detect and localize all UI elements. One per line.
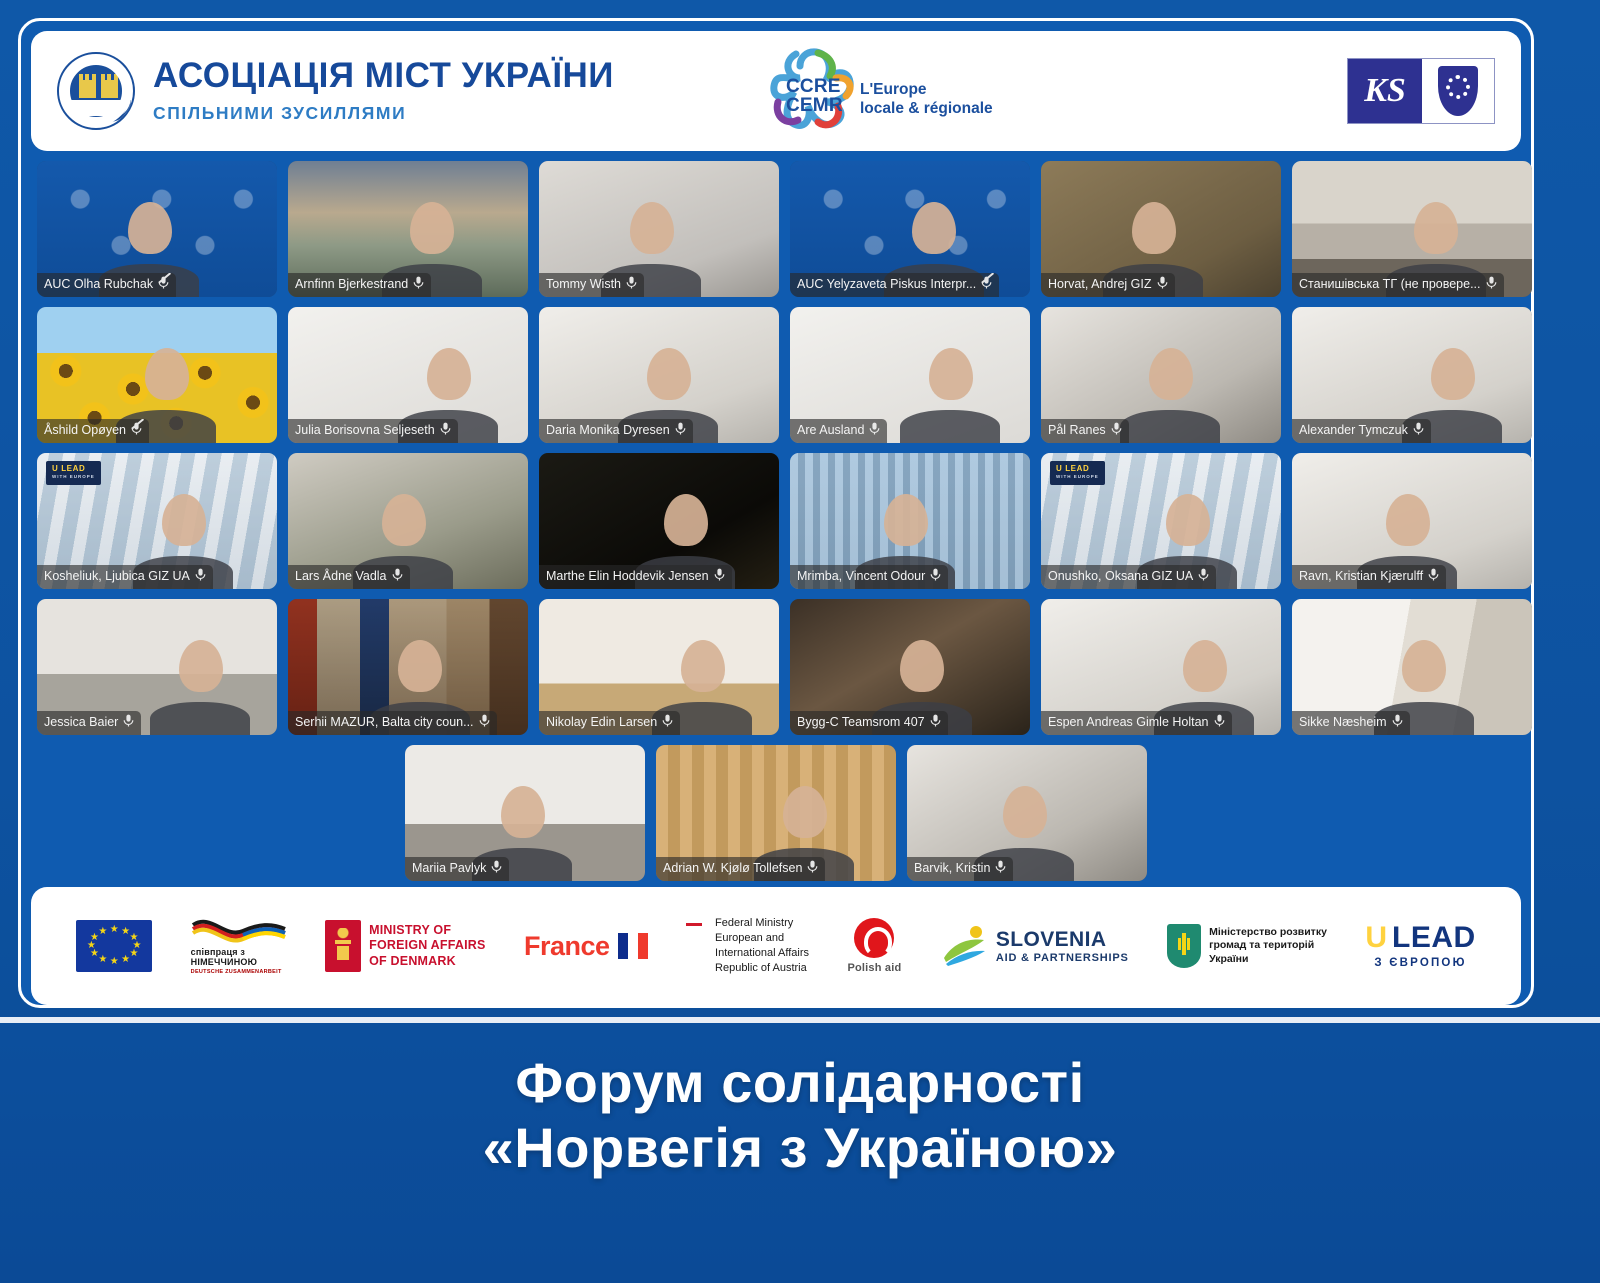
sponsor-ukraine-ministry: Міністерство розвитку громад та територі… [1167, 924, 1327, 968]
participant-tile[interactable]: Jessica Baier [37, 599, 277, 735]
ccre-abbreviation: CCRE CEMR [786, 78, 843, 115]
participant-name: Sikke Næsheim [1299, 715, 1387, 731]
participant-name: Pål Ranes [1048, 423, 1106, 439]
participant-name: Åshild Opøyen [44, 423, 126, 439]
participant-face [884, 494, 928, 546]
microphone-icon[interactable] [440, 422, 451, 439]
participant-row: AUC Olha RubchakArnfinn BjerkestrandTomm… [37, 161, 1515, 297]
microphone-icon[interactable] [1157, 276, 1168, 293]
ks-shield-icon [1438, 66, 1478, 116]
sponsor-slovenia: SLOVENIA AID & PARTNERSHIPS [940, 924, 1129, 968]
auc-seal-icon [57, 52, 135, 130]
microphone-icon[interactable] [413, 276, 424, 293]
participant-name-bar: Nikolay Edin Larsen [539, 711, 680, 735]
slovenia-name: SLOVENIA [996, 928, 1129, 952]
participant-name: Mrimba, Vincent Odour [797, 569, 925, 585]
ulead-virtual-background-badge: U LEADWITH EUROPE [1050, 461, 1105, 485]
ukraine-ministry-text: Міністерство розвитку громад та територі… [1209, 926, 1327, 967]
participant-name: Arnfinn Bjerkestrand [295, 277, 408, 293]
participant-tile[interactable]: U LEADWITH EUROPEOnushko, Oksana GIZ UA [1041, 453, 1281, 589]
ulead-lead: LEAD [1392, 923, 1476, 953]
poland-label: Polish aid [847, 962, 901, 974]
participant-name: Bygg-C Teamsrom 407 [797, 715, 925, 731]
participant-face [382, 494, 426, 546]
microphone-icon[interactable] [1486, 276, 1497, 293]
participant-name-bar: Ravn, Kristian Kjærulff [1292, 565, 1446, 589]
sponsors-bar: ★★★★★★★★★★★★ співпраця з НІМЕЧЧИНОЮ [31, 887, 1521, 1005]
participant-tile[interactable]: Barvik, Kristin [907, 745, 1147, 881]
auc-logo-group: АСОЦІАЦІЯ МІСТ УКРАЇНИ СПІЛЬНИМИ ЗУСИЛЛЯ… [57, 52, 614, 130]
slovenia-sub: AID & PARTNERSHIPS [996, 952, 1129, 964]
participant-row: U LEADWITH EUROPEKosheliuk, Ljubica GIZ … [37, 453, 1515, 589]
ks-logo: KS [1347, 58, 1495, 124]
microphone-icon[interactable] [1198, 568, 1209, 585]
participant-tile[interactable]: Ravn, Kristian Kjærulff [1292, 453, 1532, 589]
org-name: АСОЦІАЦІЯ МІСТ УКРАЇНИ [153, 58, 614, 95]
auc-title-block: АСОЦІАЦІЯ МІСТ УКРАЇНИ СПІЛЬНИМИ ЗУСИЛЛЯ… [153, 58, 614, 124]
participant-tile[interactable]: Are Ausland [790, 307, 1030, 443]
participant-name-bar: Tommy Wisth [539, 273, 644, 297]
participant-name: Are Ausland [797, 423, 864, 439]
participant-name: Serhii MAZUR, Balta city coun... [295, 715, 474, 731]
participant-name-bar: Jessica Baier [37, 711, 141, 735]
participants-grid: AUC Olha RubchakArnfinn BjerkestrandTomm… [31, 161, 1521, 883]
participant-name: Lars Ådne Vadla [295, 569, 387, 585]
eu-star-icon: ★ [110, 957, 119, 967]
participant-name-bar: Kosheliuk, Ljubica GIZ UA [37, 565, 213, 589]
ccre-star-icon: CCRE CEMR [766, 48, 858, 134]
participant-name: Barvik, Kristin [914, 861, 990, 877]
participant-name-bar: Are Ausland [790, 419, 887, 443]
ulead-u: U [1365, 923, 1387, 953]
microphone-icon[interactable] [675, 422, 686, 439]
participant-face [681, 640, 725, 692]
slovenia-leaf-icon [940, 924, 988, 968]
eu-star-icon: ★ [121, 955, 130, 965]
participant-name: Nikolay Edin Larsen [546, 715, 657, 731]
participant-torso [150, 702, 250, 735]
sponsor-eu: ★★★★★★★★★★★★ [76, 920, 152, 972]
participant-tile[interactable]: Horvat, Andrej GIZ [1041, 161, 1281, 297]
participant-name-bar: Mrimba, Vincent Odour [790, 565, 948, 589]
participant-face [664, 494, 708, 546]
microphone-icon[interactable] [392, 568, 403, 585]
participant-tile[interactable]: AUC Olha Rubchak [37, 161, 277, 297]
participant-name-bar: Станишівська ТГ (не провере... [1292, 273, 1504, 297]
microphone-icon[interactable] [1214, 714, 1225, 731]
participant-name: AUC Olha Rubchak [44, 277, 153, 293]
participant-name-bar: Sikke Næsheim [1292, 711, 1410, 735]
participant-name: Onushko, Oksana GIZ UA [1048, 569, 1193, 585]
participant-name-bar: Serhii MAZUR, Balta city coun... [288, 711, 497, 735]
participant-tile[interactable]: Åshild Opøyen [37, 307, 277, 443]
participant-name-bar: Mariia Pavlyk [405, 857, 509, 881]
eu-star-icon: ★ [129, 949, 138, 959]
participant-tile[interactable]: Bygg-C Teamsrom 407 [790, 599, 1030, 735]
microphone-icon[interactable] [626, 276, 637, 293]
eu-star-icon: ★ [98, 955, 107, 965]
participant-torso [900, 410, 1000, 443]
ccre-subtitle: L'Europe locale & régionale [860, 80, 993, 119]
france-flag-icon [618, 933, 648, 959]
sponsor-denmark: MINISTRY OF FOREIGN AFFAIRS OF DENMARK [325, 920, 485, 972]
microphone-icon[interactable] [1428, 568, 1439, 585]
ks-label: KS [1348, 59, 1422, 123]
microphone-icon[interactable] [491, 860, 502, 877]
participant-name: Jessica Baier [44, 715, 118, 731]
participant-name-bar: Pål Ranes [1041, 419, 1129, 443]
banner-title-line2: «Норвегія з Україною» [0, 1116, 1600, 1181]
participant-tile[interactable]: Nikolay Edin Larsen [539, 599, 779, 735]
microphone-icon[interactable] [1392, 714, 1403, 731]
participant-tile[interactable]: Станишівська ТГ (не провере... [1292, 161, 1532, 297]
org-tagline: СПІЛЬНИМИ ЗУСИЛЛЯМИ [153, 103, 614, 124]
participant-name-bar: Marthe Elin Hoddevik Jensen [539, 565, 732, 589]
participant-tile[interactable]: AUC Yelyzaveta Piskus Interpr... [790, 161, 1030, 297]
microphone-icon[interactable] [807, 860, 818, 877]
ulead-icon: U LEAD З ЄВРОПОЮ [1365, 923, 1475, 969]
france-label: France [524, 931, 610, 962]
participant-name: Adrian W. Kjølø Tollefsen [663, 861, 802, 877]
microphone-muted-icon[interactable] [131, 422, 142, 439]
participant-name-bar: Adrian W. Kjølø Tollefsen [656, 857, 825, 881]
participant-name-bar: Åshild Opøyen [37, 419, 149, 443]
participant-name-bar: Onushko, Oksana GIZ UA [1041, 565, 1216, 589]
ulead-sub: З ЄВРОПОЮ [1374, 957, 1466, 969]
germany-ukraine-ribbon-icon [191, 917, 287, 947]
participant-name-bar: Espen Andreas Gimle Holtan [1041, 711, 1232, 735]
participant-name: Espen Andreas Gimle Holtan [1048, 715, 1209, 731]
microphone-muted-icon[interactable] [981, 276, 992, 293]
microphone-icon[interactable] [479, 714, 490, 731]
participant-face [1166, 494, 1210, 546]
poster-root: АСОЦІАЦІЯ МІСТ УКРАЇНИ СПІЛЬНИМИ ЗУСИЛЛЯ… [0, 0, 1600, 1283]
microphone-icon[interactable] [1111, 422, 1122, 439]
microphone-icon[interactable] [195, 568, 206, 585]
participant-tile[interactable]: Espen Andreas Gimle Holtan [1041, 599, 1281, 735]
participant-name-bar: Julia Borisovna Seljeseth [288, 419, 458, 443]
participant-tile[interactable]: Mrimba, Vincent Odour [790, 453, 1030, 589]
participant-tile[interactable]: Lars Ådne Vadla [288, 453, 528, 589]
participant-name: Ravn, Kristian Kjærulff [1299, 569, 1423, 585]
participant-name-bar: Horvat, Andrej GIZ [1041, 273, 1175, 297]
microphone-icon[interactable] [995, 860, 1006, 877]
participant-name: AUC Yelyzaveta Piskus Interpr... [797, 277, 976, 293]
austria-text: Federal Ministry European and Internatio… [715, 916, 809, 975]
denmark-text: MINISTRY OF FOREIGN AFFAIRS OF DENMARK [369, 923, 485, 970]
participant-name-bar: Daria Monika Dyresen [539, 419, 693, 443]
ulead-virtual-background-badge: U LEADWITH EUROPE [46, 461, 101, 485]
ukraine-ministry-icon [1167, 924, 1201, 968]
microphone-icon[interactable] [930, 568, 941, 585]
microphone-muted-icon[interactable] [158, 276, 169, 293]
eu-star-icon: ★ [98, 927, 107, 937]
microphone-icon[interactable] [930, 714, 941, 731]
participant-name-bar: Lars Ådne Vadla [288, 565, 410, 589]
sponsor-france: France [524, 931, 648, 962]
participant-name: Kosheliuk, Ljubica GIZ UA [44, 569, 190, 585]
sponsor-ulead: U LEAD З ЄВРОПОЮ [1365, 923, 1475, 969]
title-banner: Форум солідарності «Норвегія з Україною» [0, 1017, 1600, 1283]
participant-row: Mariia PavlykAdrian W. Kjølø TollefsenBa… [37, 745, 1515, 881]
participant-face [1183, 640, 1227, 692]
participant-tile[interactable]: Marthe Elin Hoddevik Jensen [539, 453, 779, 589]
participant-tile[interactable]: Sikke Næsheim [1292, 599, 1532, 735]
participant-tile[interactable]: Julia Borisovna Seljeseth [288, 307, 528, 443]
microphone-icon[interactable] [1413, 422, 1424, 439]
polish-aid-icon [854, 918, 894, 958]
germany-caption: співпраця з НІМЕЧЧИНОЮ DEUTSCHE ZUSAMMEN… [191, 947, 282, 976]
participant-name: Julia Borisovna Seljeseth [295, 423, 435, 439]
participant-name-bar: Arnfinn Bjerkestrand [288, 273, 431, 297]
participant-name-bar: AUC Yelyzaveta Piskus Interpr... [790, 273, 999, 297]
microphone-icon[interactable] [714, 568, 725, 585]
participant-name: Alexander Tymczuk [1299, 423, 1408, 439]
participant-tile[interactable]: Pål Ranes [1041, 307, 1281, 443]
participant-tile[interactable]: Arnfinn Bjerkestrand [288, 161, 528, 297]
participant-name: Tommy Wisth [546, 277, 621, 293]
eu-flag-icon: ★★★★★★★★★★★★ [76, 920, 152, 972]
banner-title: Форум солідарності «Норвегія з Україною» [0, 1051, 1600, 1181]
sponsor-germany: співпраця з НІМЕЧЧИНОЮ DEUTSCHE ZUSAMMEN… [191, 917, 287, 976]
participant-name-bar: Barvik, Kristin [907, 857, 1013, 881]
sponsor-austria: Federal Ministry European and Internatio… [686, 916, 809, 975]
participant-name-bar: AUC Olha Rubchak [37, 273, 176, 297]
ccre-logo-group: CCRE CEMR L'Europe locale & régionale [766, 48, 993, 134]
participant-name: Horvat, Andrej GIZ [1048, 277, 1152, 293]
participant-tile[interactable]: U LEADWITH EUROPEKosheliuk, Ljubica GIZ … [37, 453, 277, 589]
participant-face [162, 494, 206, 546]
banner-title-line1: Форум солідарності [0, 1051, 1600, 1116]
participant-face [179, 640, 223, 692]
participant-name-bar: Bygg-C Teamsrom 407 [790, 711, 948, 735]
participant-row: Åshild OpøyenJulia Borisovna SeljesethDa… [37, 307, 1515, 443]
participant-tile[interactable]: Mariia Pavlyk [405, 745, 645, 881]
participant-tile[interactable]: Daria Monika Dyresen [539, 307, 779, 443]
meeting-board: АСОЦІАЦІЯ МІСТ УКРАЇНИ СПІЛЬНИМИ ЗУСИЛЛЯ… [18, 18, 1534, 1008]
denmark-crest-icon [325, 920, 361, 972]
participant-name: Daria Monika Dyresen [546, 423, 670, 439]
austria-dash-icon [686, 923, 702, 926]
participant-name: Станишівська ТГ (не провере... [1299, 277, 1481, 293]
participant-tile[interactable]: Tommy Wisth [539, 161, 779, 297]
participant-torso [1120, 410, 1220, 443]
participant-face [1386, 494, 1430, 546]
participant-name-bar: Alexander Tymczuk [1292, 419, 1431, 443]
participant-tile[interactable]: Adrian W. Kjølø Tollefsen [656, 745, 896, 881]
microphone-icon[interactable] [123, 714, 134, 731]
participant-tile[interactable]: Alexander Tymczuk [1292, 307, 1532, 443]
participant-name: Mariia Pavlyk [412, 861, 486, 877]
microphone-icon[interactable] [662, 714, 673, 731]
participant-name: Marthe Elin Hoddevik Jensen [546, 569, 709, 585]
participant-tile[interactable]: Serhii MAZUR, Balta city coun... [288, 599, 528, 735]
sponsor-poland: Polish aid [847, 918, 901, 974]
eu-star-icon: ★ [110, 925, 119, 935]
header-bar: АСОЦІАЦІЯ МІСТ УКРАЇНИ СПІЛЬНИМИ ЗУСИЛЛЯ… [31, 31, 1521, 151]
participant-row: Jessica BaierSerhii MAZUR, Balta city co… [37, 599, 1515, 735]
microphone-icon[interactable] [869, 422, 880, 439]
